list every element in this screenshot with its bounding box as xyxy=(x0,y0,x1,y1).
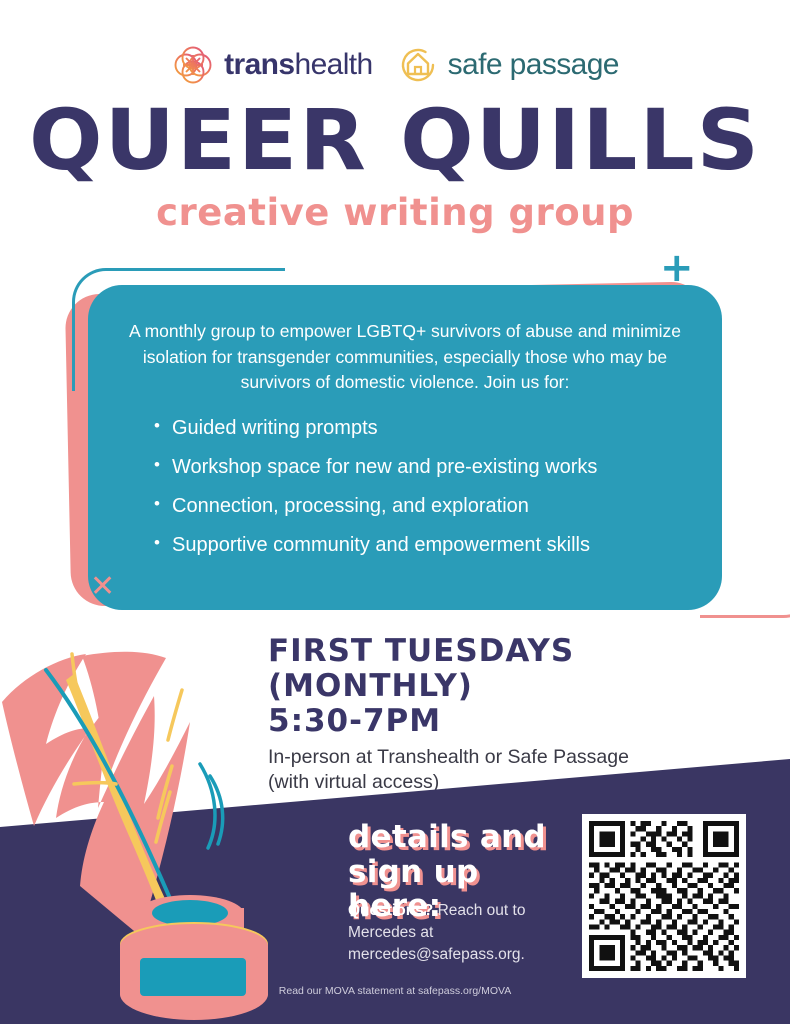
poster-canvas: transhealth safe passage QUEER QUILLS cr… xyxy=(0,0,790,1024)
schedule-time: 5:30-7PM xyxy=(268,704,768,739)
list-item: Connection, processing, and exploration xyxy=(154,496,692,516)
schedule-location-line1: In-person at Transhealth or Safe Passage xyxy=(268,745,768,770)
poster-title: QUEER QUILLS xyxy=(0,98,790,182)
safe-passage-house-icon xyxy=(397,44,439,86)
qr-code-image xyxy=(589,821,739,971)
qr-code[interactable] xyxy=(582,814,746,978)
transhealth-logo: transhealth xyxy=(171,43,373,87)
schedule-days: FIRST TUESDAYS (MONTHLY) xyxy=(268,634,768,704)
transhealth-word-bold: trans xyxy=(224,48,294,81)
plus-decoration-icon: + xyxy=(660,248,694,288)
quill-and-inkwell-illustration xyxy=(0,636,294,1024)
feature-bullet-list: Guided writing prompts Workshop space fo… xyxy=(118,418,692,555)
logo-row: transhealth safe passage xyxy=(0,36,790,94)
list-item: Guided writing prompts xyxy=(154,418,692,438)
list-item: Workshop space for new and pre-existing … xyxy=(154,457,692,477)
poster-subtitle: creative writing group xyxy=(0,194,790,231)
intro-paragraph: A monthly group to empower LGBTQ+ surviv… xyxy=(118,319,692,396)
info-card: A monthly group to empower LGBTQ+ surviv… xyxy=(88,285,722,610)
questions-block: Questions? Reach out to Mercedes at merc… xyxy=(348,900,563,966)
list-item: Supportive community and empowerment ski… xyxy=(154,535,692,555)
questions-label: Questions? xyxy=(348,902,433,919)
transhealth-wordmark: transhealth xyxy=(224,50,373,80)
cross-decoration-icon: ✕ xyxy=(90,572,115,602)
safe-passage-logo: safe passage xyxy=(397,44,619,86)
safe-passage-wordmark: safe passage xyxy=(448,50,619,80)
signup-heading-line1: details and xyxy=(348,820,578,855)
footer-note: Read our MOVA statement at safepass.org/… xyxy=(0,985,790,997)
transhealth-word-light: health xyxy=(294,48,372,81)
transhealth-logo-mark xyxy=(171,43,215,87)
